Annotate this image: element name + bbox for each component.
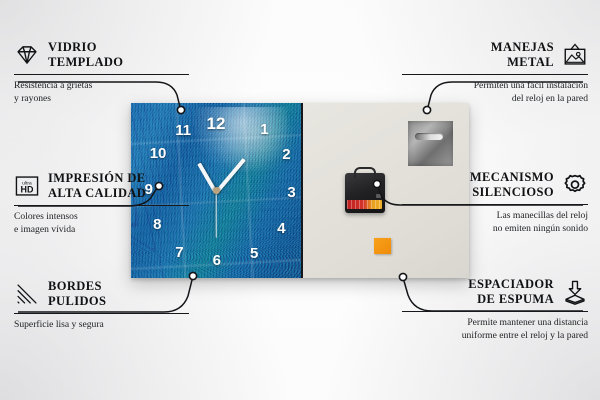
foam-spacer-pad — [374, 238, 391, 254]
feature-polished-edges: BORDES PULIDOS Superficie lisa y segura — [14, 279, 189, 332]
svg-text:HD: HD — [21, 184, 34, 194]
clock-numeral-1: 1 — [260, 122, 268, 137]
clock-numeral-3: 3 — [287, 185, 295, 200]
feature-silent-mechanism: MECANISMO SILENCIOSO Las manecillas del … — [402, 170, 588, 236]
clock-numeral-5: 5 — [250, 246, 258, 261]
quartz-mechanism — [345, 173, 385, 213]
feature-hd-print: ultra HD IMPRESIÓN DE ALTA CALIDAD Color… — [14, 171, 189, 237]
mechanism-knob — [376, 194, 381, 198]
clock-numeral-10: 10 — [150, 146, 167, 161]
clock-numeral-4: 4 — [277, 221, 285, 236]
feature-divider — [402, 311, 588, 313]
clock-second-hand — [215, 191, 216, 237]
feature-title: ESPACIADOR DE ESPUMA — [468, 277, 554, 307]
feature-title: IMPRESIÓN DE ALTA CALIDAD — [48, 171, 146, 201]
feature-foam-spacer: ESPACIADOR DE ESPUMA Permite mantener un… — [402, 277, 588, 343]
feature-subtitle: Colores intensos e imagen vívida — [14, 211, 189, 237]
clock-numeral-6: 6 — [213, 253, 221, 268]
infographic-canvas: 12 1 2 3 4 5 6 7 8 9 10 11 — [0, 0, 600, 400]
highlight-glow — [185, 107, 287, 186]
battery-compartment — [347, 200, 382, 209]
feature-subtitle: Superficie lisa y segura — [14, 319, 189, 332]
feature-header: VIDRIO TEMPLADO — [14, 40, 189, 70]
feature-subtitle: Resistencia a grietas y rayones — [14, 80, 189, 106]
feature-divider — [14, 313, 189, 315]
feature-title: MANEJAS METAL — [491, 40, 554, 70]
mechanism-loop — [354, 167, 376, 178]
feature-title: MECANISMO SILENCIOSO — [470, 170, 554, 200]
clock-numeral-7: 7 — [175, 245, 183, 260]
diamond-icon — [14, 42, 40, 68]
feature-metal-handles: MANEJAS METAL Permiten una fácil instala… — [402, 40, 588, 106]
feature-header: MECANISMO SILENCIOSO — [402, 170, 588, 200]
feature-header: ultra HD IMPRESIÓN DE ALTA CALIDAD — [14, 171, 189, 201]
clock-numeral-11: 11 — [175, 123, 191, 138]
feature-header: ESPACIADOR DE ESPUMA — [402, 277, 588, 307]
clock-numeral-12: 12 — [207, 115, 226, 132]
clock-center-pin — [213, 187, 220, 194]
picture-frame-icon — [562, 42, 588, 68]
metal-hanger-plate — [408, 121, 453, 166]
ultra-hd-icon: ultra HD — [14, 173, 40, 199]
feature-title: VIDRIO TEMPLADO — [48, 40, 123, 70]
foam-spacer-icon — [562, 279, 588, 305]
feature-divider — [402, 204, 588, 206]
feature-subtitle: Las manecillas del reloj no emiten ningú… — [402, 210, 588, 236]
clock-numeral-2: 2 — [282, 147, 290, 162]
feature-divider — [14, 74, 189, 76]
feature-subtitle: Permiten una fácil instalación del reloj… — [402, 80, 588, 106]
feature-header: BORDES PULIDOS — [14, 279, 189, 309]
polished-edge-icon — [14, 281, 40, 307]
feature-tempered-glass: VIDRIO TEMPLADO Resistencia a grietas y … — [14, 40, 189, 106]
feature-divider — [402, 74, 588, 76]
feature-divider — [14, 205, 189, 207]
feature-subtitle: Permite mantener una distancia uniforme … — [402, 317, 588, 343]
feature-header: MANEJAS METAL — [402, 40, 588, 70]
feature-title: BORDES PULIDOS — [48, 279, 106, 309]
gear-icon — [562, 172, 588, 198]
